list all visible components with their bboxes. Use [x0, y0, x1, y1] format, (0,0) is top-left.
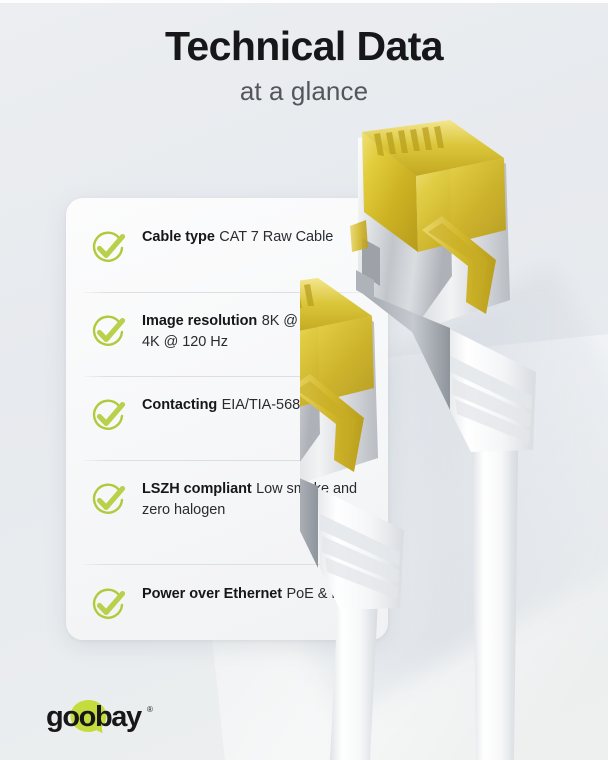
feature-title: Image resolution [142, 313, 257, 329]
feature-description: EIA/TIA-568 B [222, 397, 314, 413]
feature-text: Cable type CAT 7 Raw Cable [142, 226, 333, 248]
feature-list: Cable type CAT 7 Raw Cable Image resolut… [66, 208, 388, 630]
goobay-logo: goobay ® [46, 698, 166, 734]
page-subtitle: at a glance [0, 76, 608, 107]
feature-description: CAT 7 Raw Cable [219, 229, 333, 245]
feature-title: Contacting [142, 397, 217, 413]
feature-title: Cable type [142, 229, 215, 245]
check-circle-icon [88, 312, 132, 354]
feature-title: LSZH compliant [142, 481, 252, 497]
check-circle-icon [88, 396, 132, 438]
feature-item-image-resolution: Image resolution 8K @ 60 Hz & 4K @ 120 H… [66, 310, 388, 376]
technical-data-card: Cable type CAT 7 Raw Cable Image resolut… [66, 198, 388, 640]
feature-description: PoE & PoE+ [287, 586, 368, 602]
divider [84, 376, 370, 377]
feature-item-contacting: Contacting EIA/TIA-568 B [66, 394, 388, 460]
divider [84, 460, 370, 461]
check-circle-icon [88, 585, 132, 627]
divider [84, 292, 370, 293]
goobay-wordmark: goobay [46, 701, 142, 733]
divider [84, 564, 370, 565]
page-root: Technical Data at a glance [0, 0, 608, 760]
feature-text: LSZH compliant Low smoke and zero haloge… [142, 478, 357, 520]
feature-text: Image resolution 8K @ 60 Hz & 4K @ 120 H… [142, 310, 372, 352]
feature-item-cable-type: Cable type CAT 7 Raw Cable [66, 226, 388, 292]
feature-text: Power over Ethernet PoE & PoE+ [142, 583, 367, 605]
feature-text: Contacting EIA/TIA-568 B [142, 394, 314, 416]
check-circle-icon [88, 480, 132, 522]
registered-trademark-symbol: ® [147, 705, 153, 714]
feature-item-power-over-ethernet: Power over Ethernet PoE & PoE+ [66, 583, 388, 649]
feature-title: Power over Ethernet [142, 586, 282, 602]
page-title: Technical Data [0, 24, 608, 69]
header: Technical Data at a glance [0, 24, 608, 107]
feature-item-lszh-compliant: LSZH compliant Low smoke and zero haloge… [66, 478, 388, 564]
check-circle-icon [88, 228, 132, 270]
